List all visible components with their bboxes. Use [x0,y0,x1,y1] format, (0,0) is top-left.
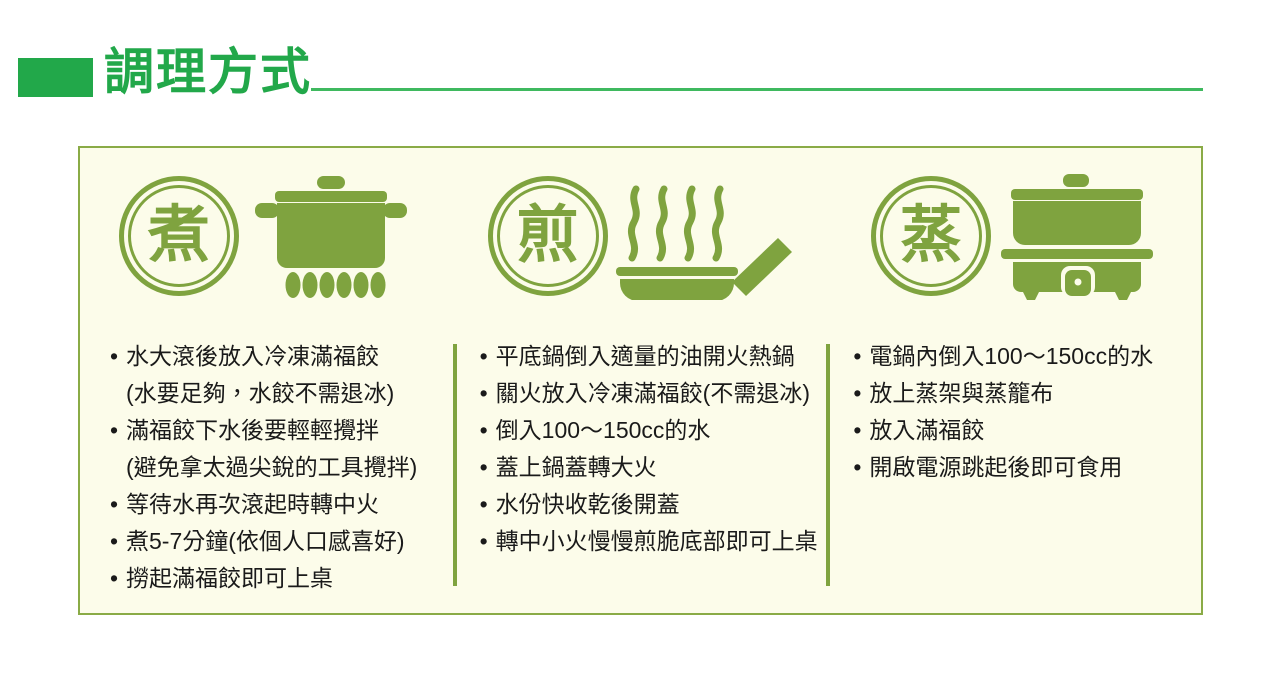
list-item: • 水份快收乾後開蓋 [480,486,820,522]
header-accent-block [18,58,93,97]
method-glyph-panfry: 煎 [488,176,608,296]
stock-pot-with-flames-icon [245,172,415,300]
method-icon-row-steam: 蒸 [827,148,1201,324]
method-steps-panfry: • 平底鍋倒入適量的油開火熱鍋 • 關火放入冷凍滿福餃(不需退冰) • 倒入10… [454,324,828,613]
list-item: • 滿福餃下水後要輕輕攪拌 [110,412,446,448]
method-column-steam: 蒸 [827,148,1201,613]
list-item-text: 電鍋內倒入100～150cc的水 [869,338,1193,374]
list-item-text: 蓋上鍋蓋轉大火 [496,449,820,485]
list-item: • (水要足夠，水餃不需退冰) [110,375,446,411]
method-badge-panfry: 煎 [488,176,608,296]
list-item: • 蓋上鍋蓋轉大火 [480,449,820,485]
list-item-text: 撈起滿福餃即可上桌 [126,560,446,596]
list-item: • 放入滿福餃 [853,412,1193,448]
bullet-marker: • [110,486,126,522]
rice-cooker-steamer-icon [997,172,1157,300]
bullet-marker: • [110,560,126,596]
bullet-marker: • [480,523,496,559]
method-column-panfry: 煎 [454,148,828,613]
list-item-text: 平底鍋倒入適量的油開火熱鍋 [496,338,820,374]
header-divider-rule [311,88,1203,91]
method-icon-row-panfry: 煎 [454,148,828,324]
method-steps-steam: • 電鍋內倒入100～150cc的水 • 放上蒸架與蒸籠布 • 放入滿福餃 • … [827,324,1201,613]
list-item-text: 關火放入冷凍滿福餃(不需退冰) [496,375,820,411]
methods-columns: 煮 [80,148,1201,613]
bullet-marker: • [110,523,126,559]
list-item-text: 放入滿福餃 [869,412,1193,448]
list-item-text: 滿福餃下水後要輕輕攪拌 [126,412,446,448]
bullet-marker: • [853,449,869,485]
list-item: • 煮5-7分鐘(依個人口感喜好) [110,523,446,559]
list-item: • (避免拿太過尖銳的工具攪拌) [110,449,446,485]
bullet-marker: • [480,449,496,485]
list-item-text: 轉中小火慢慢煎脆底部即可上桌 [496,523,820,559]
list-item: • 撈起滿福餃即可上桌 [110,560,446,596]
method-column-boil: 煮 [80,148,454,613]
bullet-marker: • [853,412,869,448]
list-item-text: 倒入100～150cc的水 [496,412,820,448]
list-item: • 開啟電源跳起後即可食用 [853,449,1193,485]
bullet-marker: • [480,375,496,411]
page-title: 調理方式 [104,41,312,103]
method-glyph-boil: 煮 [119,176,239,296]
list-item: • 等待水再次滾起時轉中火 [110,486,446,522]
method-glyph-steam: 蒸 [871,176,991,296]
list-item-text: (避免拿太過尖銳的工具攪拌) [126,449,446,485]
list-item-text: 煮5-7分鐘(依個人口感喜好) [126,523,446,559]
list-item: • 放上蒸架與蒸籠布 [853,375,1193,411]
method-badge-boil: 煮 [119,176,239,296]
page-header: 調理方式 [0,47,1280,109]
method-icon-row-boil: 煮 [80,148,454,324]
list-item-text: 等待水再次滾起時轉中火 [126,486,446,522]
bullet-marker: • [853,375,869,411]
list-item-text: 開啟電源跳起後即可食用 [869,449,1193,485]
list-item: • 倒入100～150cc的水 [480,412,820,448]
list-item: • 關火放入冷凍滿福餃(不需退冰) [480,375,820,411]
bullet-marker: • [480,486,496,522]
bullet-marker: • [480,338,496,374]
list-item-text: 水大滾後放入冷凍滿福餃 [126,338,446,374]
list-item: • 平底鍋倒入適量的油開火熱鍋 [480,338,820,374]
list-item-text: (水要足夠，水餃不需退冰) [126,375,446,411]
method-badge-steam: 蒸 [871,176,991,296]
frying-pan-with-steam-icon [614,172,794,300]
bullet-marker: • [110,449,126,485]
cooking-methods-panel: 煮 [78,146,1203,615]
bullet-marker: • [110,412,126,448]
bullet-marker: • [853,338,869,374]
bullet-marker: • [110,338,126,374]
list-item-text: 水份快收乾後開蓋 [496,486,820,522]
bullet-marker: • [110,375,126,411]
bullet-marker: • [480,412,496,448]
list-item: • 轉中小火慢慢煎脆底部即可上桌 [480,523,820,559]
list-item-text: 放上蒸架與蒸籠布 [869,375,1193,411]
list-item: • 水大滾後放入冷凍滿福餃 [110,338,446,374]
list-item: • 電鍋內倒入100～150cc的水 [853,338,1193,374]
method-steps-boil: • 水大滾後放入冷凍滿福餃 • (水要足夠，水餃不需退冰) • 滿福餃下水後要輕… [80,324,454,613]
